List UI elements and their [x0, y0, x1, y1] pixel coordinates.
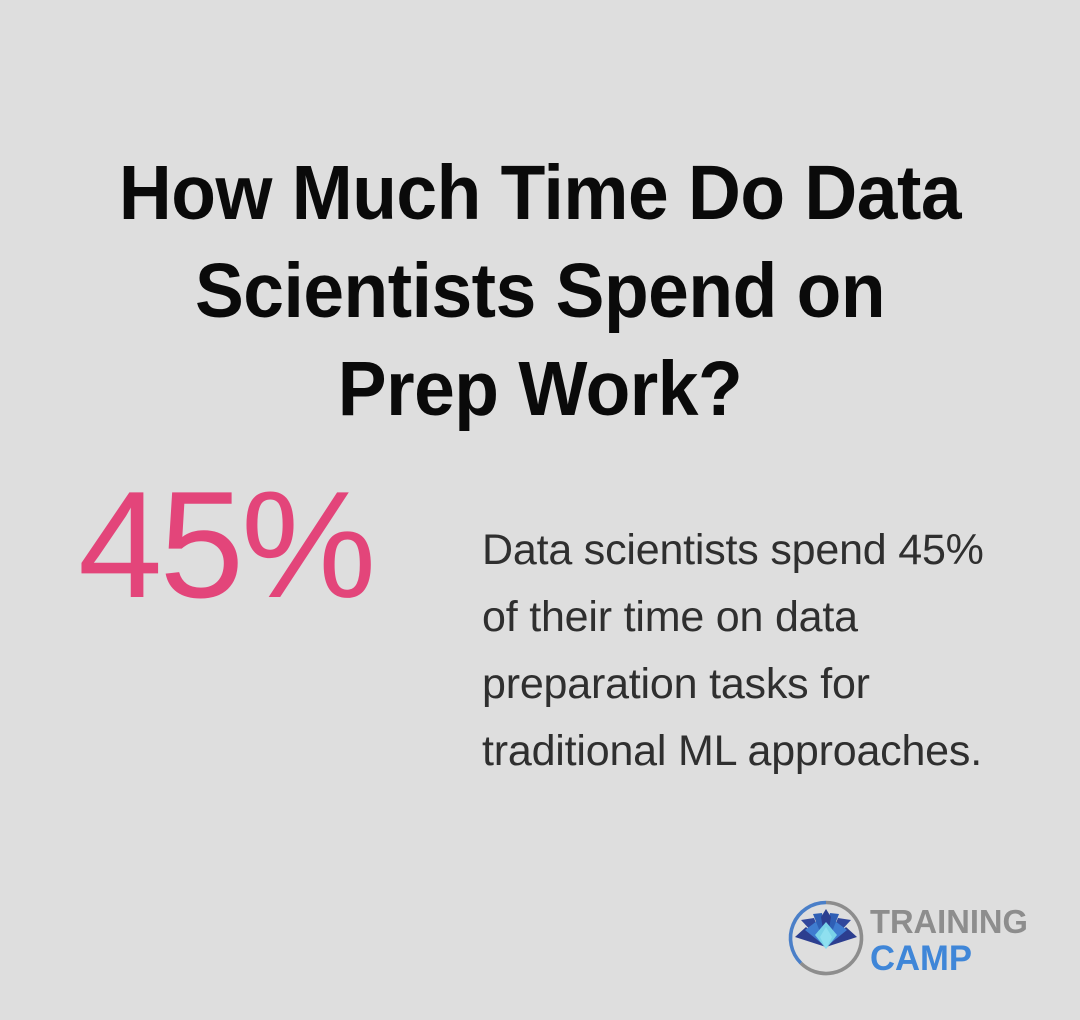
stat-description: Data scientists spend 45% of their time … — [482, 517, 1002, 785]
page-title: How Much Time Do Data Scientists Spend o… — [113, 144, 968, 438]
stat-section: 45% Data scientists spend 45% of their t… — [0, 460, 1080, 820]
logo-word-camp: CAMP — [870, 941, 972, 976]
brand-logo: TRAINING CAMP — [786, 896, 1048, 980]
infographic-canvas: How Much Time Do Data Scientists Spend o… — [0, 0, 1080, 1020]
logo-word-training: TRAINING — [870, 905, 1028, 938]
logo-wordmark: TRAINING CAMP — [870, 898, 1048, 978]
lotus-burst-in-circle-icon — [786, 898, 866, 978]
stat-value: 45% — [78, 470, 373, 620]
